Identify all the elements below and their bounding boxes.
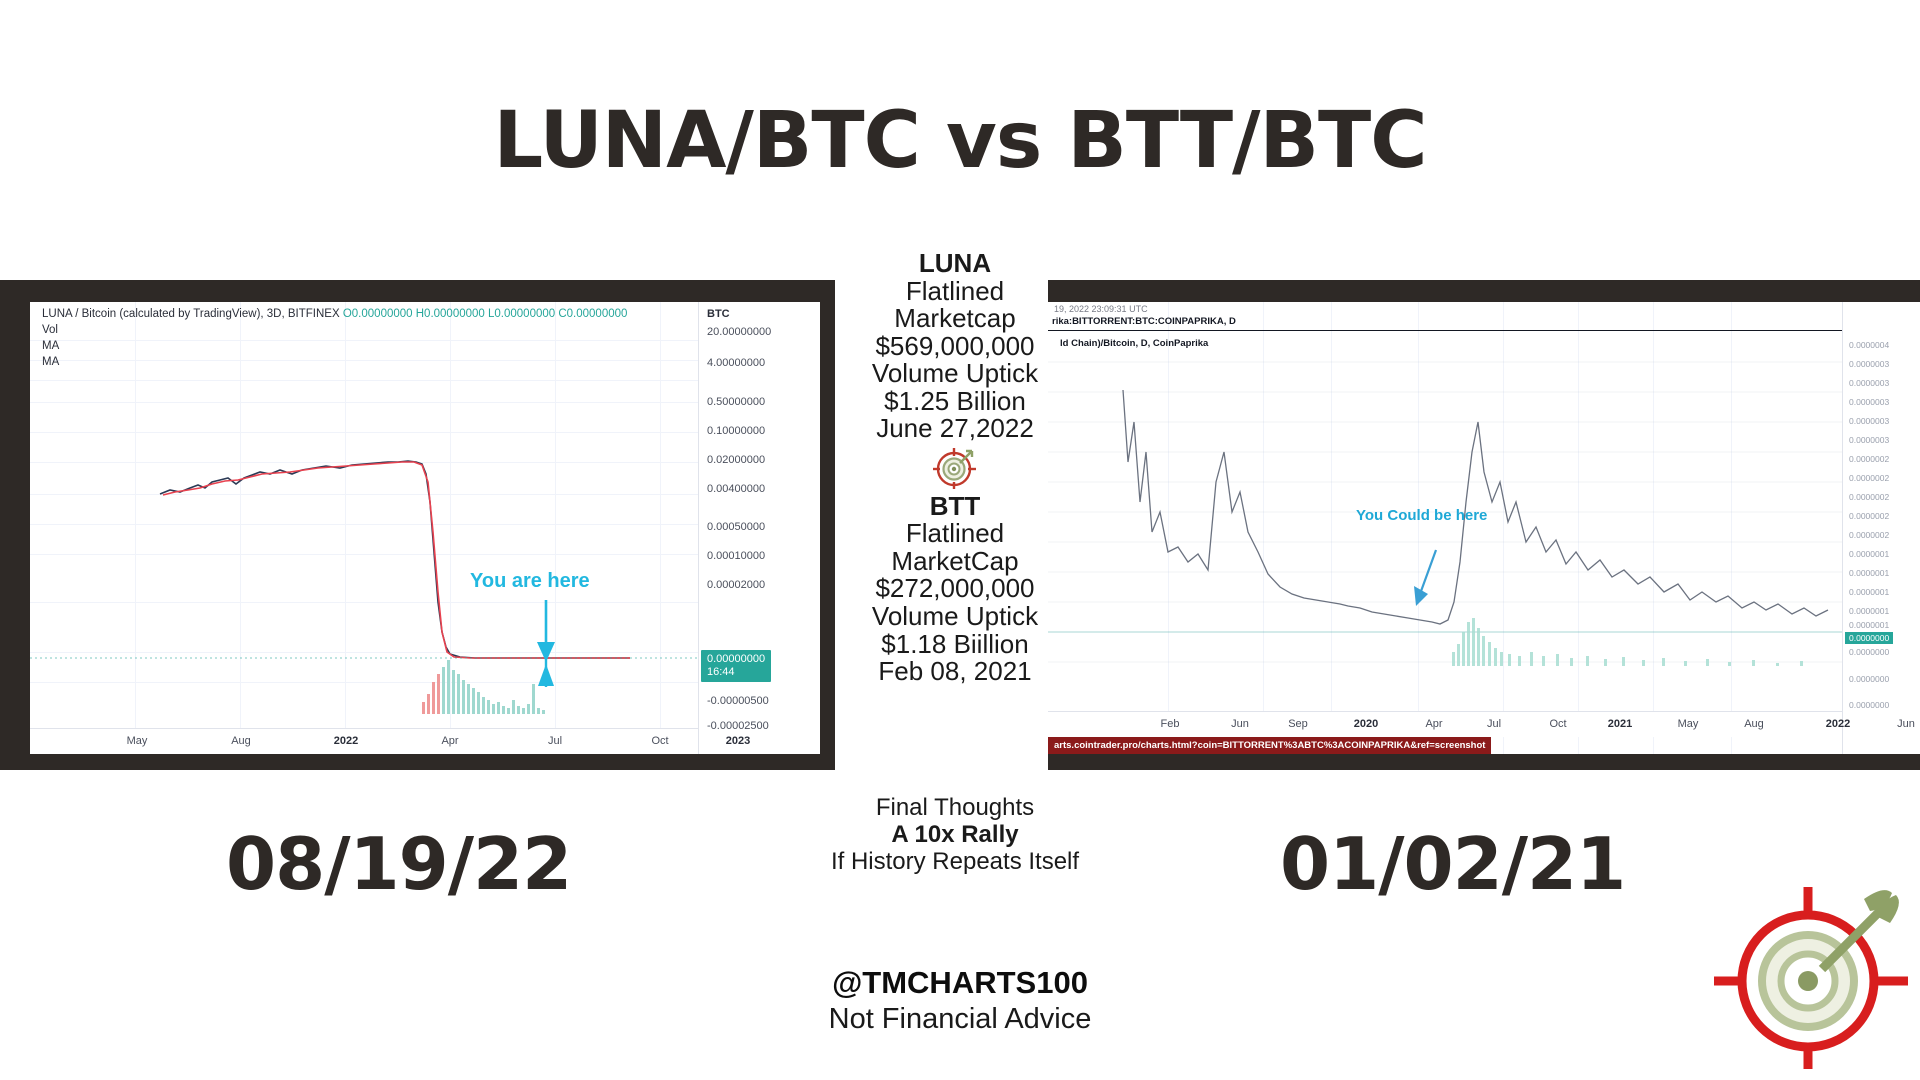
right-price-tick: 0.0000002 — [1849, 473, 1889, 483]
left-time-tick: Apr — [441, 735, 458, 747]
right-price-tick: 0.0000003 — [1849, 359, 1889, 369]
btt-flatlined-label: Flatlined — [830, 520, 1080, 548]
right-price-tick: 0.0000002 — [1849, 530, 1889, 540]
right-price-axis[interactable]: 0.0000004 0.0000003 0.0000003 0.0000003 … — [1842, 302, 1920, 754]
right-price-tick: 0.0000002 — [1849, 511, 1889, 521]
right-time-tick: May — [1678, 718, 1699, 730]
right-price-tick: 0.0000003 — [1849, 397, 1889, 407]
right-price-tick: 0.0000001 — [1849, 549, 1889, 559]
luna-flatlined-label: Flatlined — [830, 278, 1080, 306]
final-thoughts-heading: Final Thoughts — [790, 795, 1120, 822]
poster-root: LUNA/BTC vs BTT/BTC LUNA / Bitc — [0, 0, 1920, 1080]
target-icon — [932, 445, 978, 491]
left-time-tick: Oct — [651, 735, 668, 747]
right-price-tick: 0.0000000 — [1849, 674, 1889, 684]
luna-heading: LUNA — [830, 250, 1080, 278]
right-time-tick: Feb — [1161, 718, 1180, 730]
left-price-tick: 0.02000000 — [707, 454, 765, 466]
luna-date: June 27,2022 — [830, 415, 1080, 443]
luna-volume-value: $1.25 Billion — [830, 388, 1080, 416]
final-thoughts-highlight: A 10x Rally — [790, 822, 1120, 849]
luna-marketcap-value: $569,000,000 — [830, 333, 1080, 361]
center-summary-column: LUNA Flatlined Marketcap $569,000,000 Vo… — [830, 250, 1080, 686]
right-time-tick: 2021 — [1608, 718, 1632, 730]
corner-target-logo — [1712, 871, 1912, 1076]
left-price-tick: 0.50000000 — [707, 396, 765, 408]
right-price-tick: 0.0000003 — [1849, 435, 1889, 445]
right-time-tick: Jun — [1897, 718, 1915, 730]
left-time-tick: May — [127, 735, 148, 747]
left-chart-canvas[interactable]: LUNA / Bitcoin (calculated by TradingVie… — [30, 302, 820, 754]
right-chart-url-bar[interactable]: arts.cointrader.pro/charts.html?coin=BIT… — [1048, 737, 1491, 754]
right-price-tick: 0.0000004 — [1849, 340, 1889, 350]
footer-disclaimer: Not Financial Advice — [0, 1003, 1920, 1036]
right-time-tick: Apr — [1425, 718, 1442, 730]
left-time-tick: Aug — [231, 735, 251, 747]
right-time-tick: Oct — [1549, 718, 1566, 730]
right-time-tick: 2022 — [1826, 718, 1850, 730]
right-price-tick: 0.0000000 — [1849, 647, 1889, 657]
left-current-price-tag: 0.00000000 16:44 — [701, 650, 771, 682]
right-current-price-tag: 0.0000000 — [1845, 632, 1893, 644]
right-price-tick: 0.0000003 — [1849, 378, 1889, 388]
left-axis-title: BTC — [707, 308, 730, 320]
left-time-tick: 2023 — [726, 735, 750, 747]
footer-handle: @TMCHARTS100 — [0, 965, 1920, 1001]
left-chart-annotation: You are here — [470, 570, 590, 593]
right-time-tick: Sep — [1288, 718, 1308, 730]
left-price-tick: 0.00010000 — [707, 550, 765, 562]
left-annotation-arrow — [30, 302, 698, 754]
left-price-tick: -0.00002500 — [707, 720, 769, 732]
page-title: LUNA/BTC vs BTT/BTC — [0, 96, 1920, 186]
right-price-tick: 0.0000002 — [1849, 454, 1889, 464]
right-price-tick: 0.0000003 — [1849, 416, 1889, 426]
right-price-tick: 0.0000001 — [1849, 568, 1889, 578]
target-logo-icon — [1712, 871, 1912, 1071]
right-chart-canvas[interactable]: 19, 2022 23:09:31 UTC rika:BITTORRENT:BT… — [1048, 302, 1920, 754]
btt-heading: BTT — [830, 493, 1080, 521]
left-time-axis[interactable]: May Aug 2022 Apr Jul Oct 2023 — [30, 728, 698, 754]
right-price-tick: 0.0000000 — [1849, 700, 1889, 710]
target-icon-wrapper — [830, 445, 1080, 491]
btt-volume-value: $1.18 Biillion — [830, 631, 1080, 659]
right-chart-annotation: You Could be here — [1356, 507, 1487, 524]
right-time-axis[interactable]: Feb Jun Sep 2020 Apr Jul Oct 2021 May Au… — [1048, 711, 1842, 737]
left-date-label: 08/19/22 — [226, 822, 571, 906]
left-price-tick: 4.00000000 — [707, 357, 765, 369]
left-time-tick: 2022 — [334, 735, 358, 747]
right-chart-panel: 19, 2022 23:09:31 UTC rika:BITTORRENT:BT… — [1048, 280, 1920, 770]
left-price-axis[interactable]: BTC 20.00000000 4.00000000 0.50000000 0.… — [698, 302, 820, 754]
right-time-tick: 2020 — [1354, 718, 1378, 730]
right-price-tick: 0.0000001 — [1849, 606, 1889, 616]
right-price-tick: 0.0000001 — [1849, 587, 1889, 597]
left-current-price-value: 0.00000000 — [707, 653, 765, 665]
btt-volume-label: Volume Uptick — [830, 603, 1080, 631]
btt-marketcap-label: MarketCap — [830, 548, 1080, 576]
left-price-tick: 0.00002000 — [707, 579, 765, 591]
left-current-price-time: 16:44 — [707, 666, 735, 678]
left-price-tick: 20.00000000 — [707, 326, 771, 338]
right-date-label: 01/02/21 — [1280, 822, 1625, 906]
btt-marketcap-value: $272,000,000 — [830, 575, 1080, 603]
left-time-tick: Jul — [548, 735, 562, 747]
left-price-tick: -0.00000500 — [707, 695, 769, 707]
right-price-tick: 0.0000001 — [1849, 620, 1889, 630]
btt-date: Feb 08, 2021 — [830, 658, 1080, 686]
left-chart-panel: LUNA / Bitcoin (calculated by TradingVie… — [0, 280, 835, 770]
footer: @TMCHARTS100 Not Financial Advice — [0, 965, 1920, 1036]
final-thoughts-block: Final Thoughts A 10x Rally If History Re… — [790, 795, 1120, 876]
right-time-tick: Jun — [1231, 718, 1249, 730]
right-price-series — [1048, 302, 1842, 754]
right-time-tick: Jul — [1487, 718, 1501, 730]
right-time-tick: Aug — [1744, 718, 1764, 730]
left-price-tick: 0.00050000 — [707, 521, 765, 533]
right-price-tick: 0.0000002 — [1849, 492, 1889, 502]
luna-volume-label: Volume Uptick — [830, 360, 1080, 388]
final-thoughts-subtext: If History Repeats Itself — [790, 849, 1120, 876]
left-price-tick: 0.00400000 — [707, 483, 765, 495]
luna-marketcap-label: Marketcap — [830, 305, 1080, 333]
left-price-tick: 0.10000000 — [707, 425, 765, 437]
